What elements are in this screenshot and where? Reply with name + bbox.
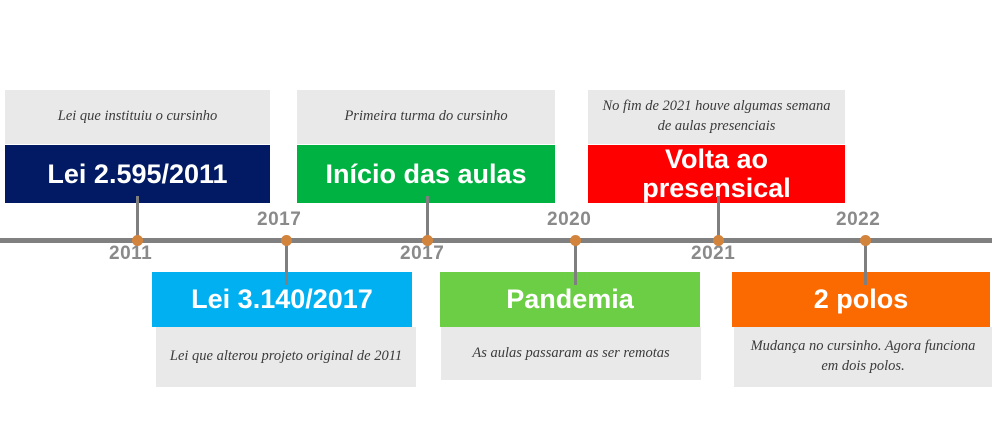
year-label-2022: 2022 (836, 209, 880, 231)
card-description: No fim de 2021 houve algumas semana de a… (588, 90, 845, 144)
card-title: Lei 2.595/2011 (5, 145, 270, 203)
card-description: Lei que alterou projeto original de 2011 (156, 327, 416, 387)
timeline-infographic: Lei que instituiu o cursinho Lei 2.595/2… (0, 0, 992, 427)
year-label-2021: 2021 (691, 243, 735, 265)
year-label-2011: 2011 (109, 243, 152, 265)
timeline-node-2017-lei (281, 235, 292, 246)
card-title: 2 polos (732, 272, 990, 327)
year-label-2017-lei: 2017 (257, 209, 301, 231)
year-label-2020: 2020 (547, 209, 591, 231)
timeline-card-pandemia[interactable]: Pandemia As aulas passaram as ser remota… (440, 272, 700, 387)
timeline-node-2020 (570, 235, 581, 246)
timeline-node-2022 (860, 235, 871, 246)
card-title: Pandemia (440, 272, 700, 327)
card-title: Volta ao presensical (588, 145, 845, 203)
card-description: As aulas passaram as ser remotas (441, 327, 701, 380)
card-title: Lei 3.140/2017 (152, 272, 412, 327)
timeline-node-2021 (713, 235, 724, 246)
connector-stem-pandemia (574, 240, 577, 285)
timeline-node-2011 (132, 235, 143, 246)
timeline-card-dois-polos[interactable]: 2 polos Mudança no cursinho. Agora funci… (732, 272, 990, 387)
timeline-card-volta-ao-presencial[interactable]: No fim de 2021 houve algumas semana de a… (588, 90, 845, 203)
timeline-node-2017-aulas (422, 235, 433, 246)
year-label-2017-aulas: 2017 (400, 243, 444, 265)
timeline-card-lei-2595-2011[interactable]: Lei que instituiu o cursinho Lei 2.595/2… (5, 90, 270, 203)
connector-stem-lei-3140-2017 (285, 240, 288, 285)
card-description: Primeira turma do cursinho (297, 90, 555, 144)
timeline-card-inicio-das-aulas[interactable]: Primeira turma do cursinho Início das au… (297, 90, 555, 203)
card-title: Início das aulas (297, 145, 555, 203)
card-description: Lei que instituiu o cursinho (5, 90, 270, 144)
timeline-card-lei-3140-2017[interactable]: Lei 3.140/2017 Lei que alterou projeto o… (152, 272, 412, 387)
connector-stem-dois-polos (864, 240, 867, 285)
card-description: Mudança no cursinho. Agora funciona em d… (734, 327, 992, 387)
